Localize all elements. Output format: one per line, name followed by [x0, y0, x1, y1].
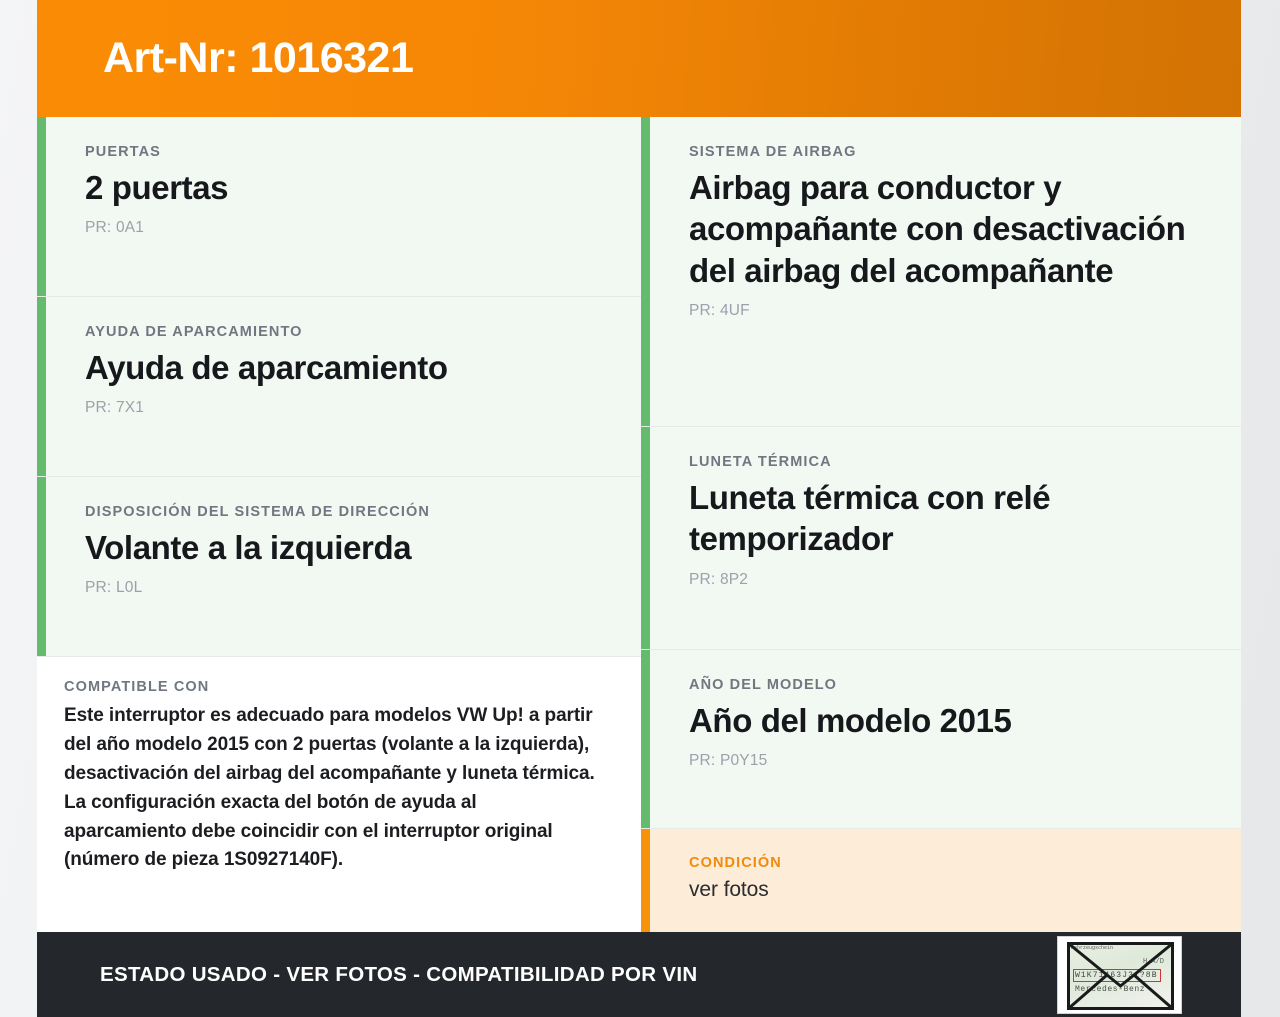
header-banner: Art-Nr: 1016321	[37, 0, 1241, 117]
spec-card-direccion: DISPOSICIÓN DEL SISTEMA DE DIRECCIÓN Vol…	[37, 477, 641, 657]
spec-value: 2 puertas	[85, 167, 611, 208]
spec-value: Volante a la izquierda	[85, 527, 611, 568]
spec-card-ayuda-aparcamiento: AYUDA DE APARCAMIENTO Ayuda de aparcamie…	[37, 297, 641, 477]
condition-value: ver fotos	[689, 878, 1211, 902]
spec-card-puertas: PUERTAS 2 puertas PR: 0A1	[37, 117, 641, 297]
spec-card-ano-modelo: AÑO DEL MODELO Año del modelo 2015 PR: P…	[641, 650, 1241, 829]
page-title: Art-Nr: 1016321	[103, 35, 413, 82]
compatibility-card: COMPATIBLE CON Este interruptor es adecu…	[37, 657, 641, 932]
spec-label: DISPOSICIÓN DEL SISTEMA DE DIRECCIÓN	[85, 504, 611, 520]
spec-card-airbag: SISTEMA DE AIRBAG Airbag para conductor …	[641, 117, 1241, 427]
spec-value: Airbag para conductor y acompañante con …	[689, 167, 1211, 291]
spec-label: SISTEMA DE AIRBAG	[689, 144, 1211, 160]
spec-pr-code: PR: 8P2	[689, 571, 1211, 589]
condition-card: CONDICIÓN ver fotos	[641, 829, 1241, 932]
spec-card-luneta-termica: LUNETA TÉRMICA Luneta térmica con relé t…	[641, 427, 1241, 650]
compatibility-text: Este interruptor es adecuado para modelo…	[64, 702, 604, 875]
spec-value: Año del modelo 2015	[689, 700, 1211, 741]
spec-pr-code: PR: L0L	[85, 579, 611, 597]
compatibility-label: COMPATIBLE CON	[64, 679, 611, 695]
spec-pr-code: PR: 0A1	[85, 219, 611, 237]
spec-pr-code: PR: P0Y15	[689, 752, 1211, 770]
condition-label: CONDICIÓN	[689, 855, 1211, 871]
envelope-icon	[1067, 942, 1174, 1010]
spec-value: Luneta térmica con relé temporizador	[689, 477, 1211, 560]
right-column: SISTEMA DE AIRBAG Airbag para conductor …	[641, 117, 1241, 932]
spec-label: AYUDA DE APARCAMIENTO	[85, 324, 611, 340]
left-column: PUERTAS 2 puertas PR: 0A1 AYUDA DE APARC…	[37, 117, 641, 932]
spec-label: PUERTAS	[85, 144, 611, 160]
spec-label: LUNETA TÉRMICA	[689, 454, 1211, 470]
spec-value: Ayuda de aparcamiento	[85, 347, 611, 388]
vin-document-thumbnail[interactable]: Fahrzeugschein H A/D W1K71463J31?8B Merc…	[1057, 936, 1182, 1014]
spec-pr-code: PR: 7X1	[85, 399, 611, 417]
product-detail-card: Art-Nr: 1016321 PUERTAS 2 puertas PR: 0A…	[37, 0, 1241, 1017]
spec-grid: PUERTAS 2 puertas PR: 0A1 AYUDA DE APARC…	[37, 117, 1241, 932]
footer-bar: ESTADO USADO - VER FOTOS - COMPATIBILIDA…	[37, 932, 1241, 1017]
spec-label: AÑO DEL MODELO	[689, 677, 1211, 693]
spec-pr-code: PR: 4UF	[689, 302, 1211, 320]
footer-notice: ESTADO USADO - VER FOTOS - COMPATIBILIDA…	[100, 963, 697, 987]
